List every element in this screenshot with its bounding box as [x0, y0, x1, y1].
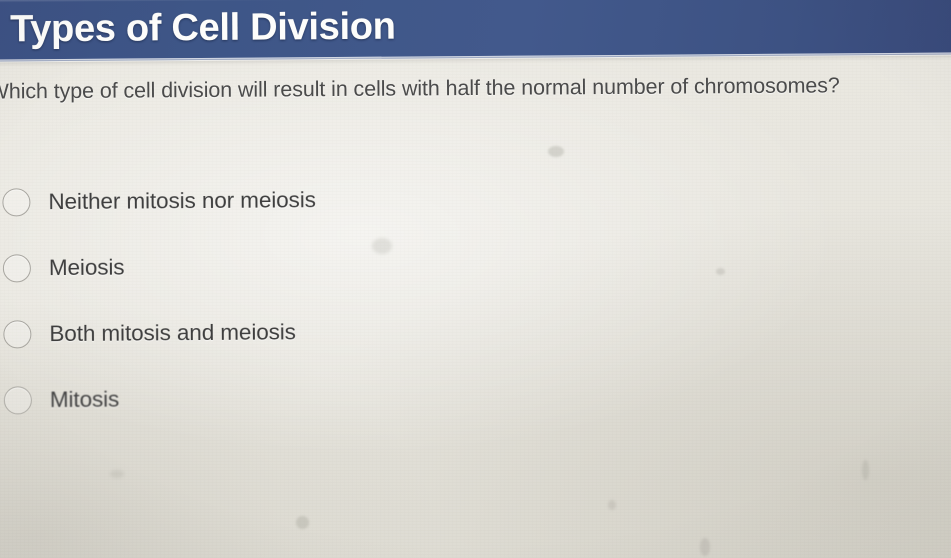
header-highlight	[0, 0, 951, 2]
radio-button-icon[interactable]	[3, 254, 31, 282]
answer-option-row[interactable]: Mitosis	[0, 363, 595, 433]
radio-button-icon[interactable]	[2, 188, 30, 216]
answer-option-row[interactable]: Meiosis	[0, 231, 594, 301]
answer-option-label: Neither mitosis nor meiosis	[48, 187, 316, 215]
question-prompt: Which type of cell division will result …	[0, 71, 949, 106]
answer-options-list: Neither mitosis nor meiosis Meiosis Both…	[0, 165, 595, 433]
answer-option-label: Mitosis	[50, 387, 120, 414]
photo-tilt-group: Types of Cell Division Which type of cel…	[0, 0, 951, 558]
answer-option-row[interactable]: Neither mitosis nor meiosis	[0, 165, 594, 235]
answer-option-label: Meiosis	[49, 255, 125, 282]
radio-button-icon[interactable]	[3, 320, 31, 348]
radio-button-icon[interactable]	[4, 386, 32, 414]
quiz-screen: Types of Cell Division Which type of cel…	[0, 0, 951, 558]
header-banner: Types of Cell Division	[0, 0, 951, 62]
answer-option-label: Both mitosis and meiosis	[49, 319, 296, 347]
answer-option-row[interactable]: Both mitosis and meiosis	[0, 297, 595, 367]
page-title: Types of Cell Division	[10, 3, 396, 54]
